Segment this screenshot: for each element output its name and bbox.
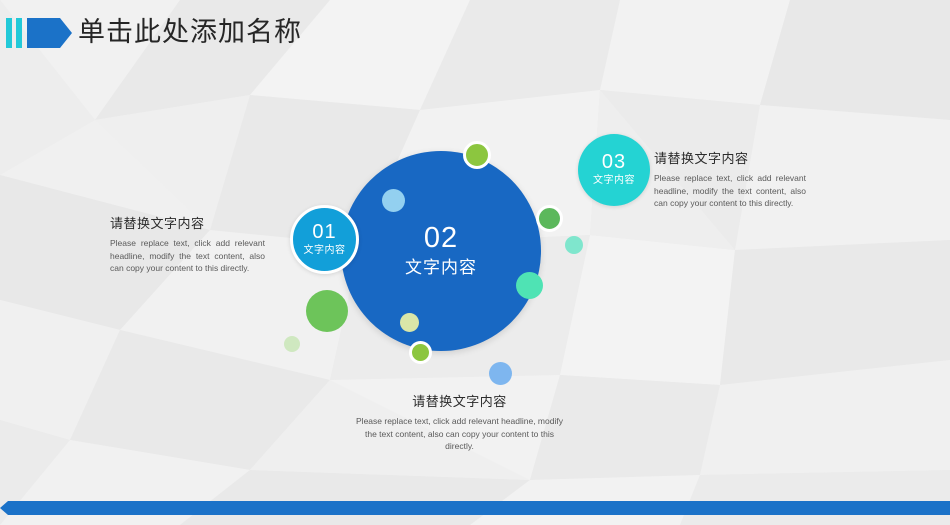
bubble-lightblue-inner <box>382 189 405 212</box>
node-step-03[interactable]: 03 文字内容 <box>578 134 650 206</box>
node-01-label: 文字内容 <box>304 244 346 258</box>
bubble-palegreen-left <box>284 336 300 352</box>
text-block-bottom-body: Please replace text, click add relevant … <box>352 415 567 453</box>
node-center-label: 文字内容 <box>405 256 477 280</box>
text-block-left-body: Please replace text, click add relevant … <box>110 237 265 275</box>
bubble-mint-inner <box>516 272 543 299</box>
text-block-left[interactable]: 请替换文字内容 Please replace text, click add r… <box>110 215 265 275</box>
bubble-lightblue-bottom <box>489 362 512 385</box>
bubble-green-top <box>463 141 491 169</box>
text-block-right[interactable]: 请替换文字内容 Please replace text, click add r… <box>654 150 806 210</box>
node-center-number: 02 <box>424 222 458 254</box>
node-center-02[interactable]: 02 文字内容 <box>341 151 541 351</box>
node-01-number: 01 <box>312 222 336 243</box>
header-accent-decoration <box>6 18 72 48</box>
text-block-right-body: Please replace text, click add relevant … <box>654 172 806 210</box>
text-block-left-heading: 请替换文字内容 <box>110 215 265 233</box>
text-block-bottom-heading: 请替换文字内容 <box>352 393 567 411</box>
bubble-green-left-large <box>306 290 348 332</box>
text-block-bottom[interactable]: 请替换文字内容 Please replace text, click add r… <box>352 393 567 453</box>
header-bar-1 <box>6 18 12 48</box>
node-step-01[interactable]: 01 文字内容 <box>290 205 359 274</box>
header-bar-2 <box>16 18 22 48</box>
slide-canvas: 单击此处添加名称 02 文字内容 01 文字内容 03 文字内容 请替换文字内容… <box>0 0 950 525</box>
footer-bar <box>0 501 950 515</box>
node-03-number: 03 <box>602 152 626 173</box>
node-03-label: 文字内容 <box>593 174 635 188</box>
bubble-green-right <box>536 205 563 232</box>
text-block-right-heading: 请替换文字内容 <box>654 150 806 168</box>
bubble-paleyellow-inner <box>400 313 419 332</box>
bubble-mint-right <box>565 236 583 254</box>
bubble-green-bottom <box>409 341 432 364</box>
page-title: 单击此处添加名称 <box>78 12 302 52</box>
header-arrow <box>27 18 72 48</box>
